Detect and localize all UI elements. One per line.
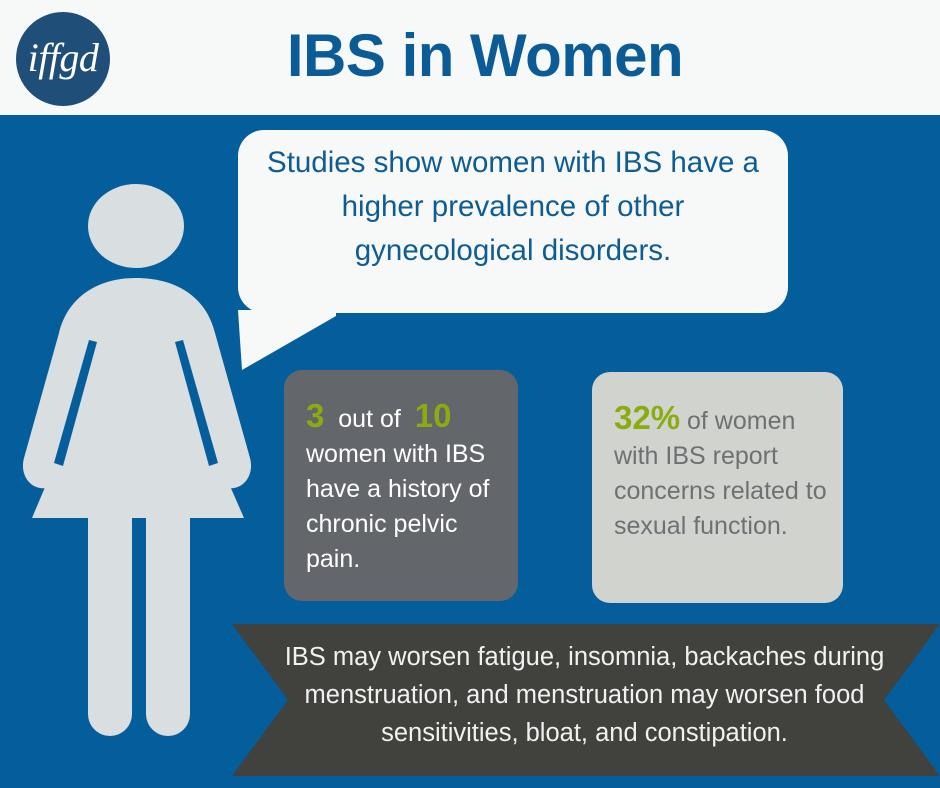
header-bar: iffgd IBS in Women [0, 0, 940, 115]
page-title: IBS in Women [0, 0, 940, 110]
stat-left-highlight-2: 10 [415, 397, 452, 434]
speech-bubble: Studies show women with IBS have a highe… [238, 130, 788, 313]
stat-left-middle-text: out of [338, 405, 401, 433]
stat-card-sexual-function: 32% of women with IBS report concerns re… [592, 372, 843, 603]
stat-card-right-text: 32% of women with IBS report concerns re… [614, 400, 833, 544]
stat-card-chronic-pelvic-pain: 3 out of 10 women with IBS have a histor… [284, 370, 518, 601]
infographic-canvas: iffgd IBS in Women Studies show women wi… [0, 0, 940, 788]
bottom-ribbon-text: IBS may worsen fatigue, insomnia, backac… [262, 638, 907, 752]
speech-bubble-tail-icon [238, 310, 358, 372]
stat-card-left-text: 3 out of 10 women with IBS have a histor… [306, 398, 508, 577]
speech-bubble-text: Studies show women with IBS have a highe… [260, 141, 766, 273]
stat-right-highlight-1: 32% [614, 399, 680, 436]
stat-left-highlight-1: 3 [306, 397, 324, 434]
bottom-ribbon-banner: IBS may worsen fatigue, insomnia, backac… [232, 624, 940, 776]
stat-left-rest-text: women with IBS have a history of chronic… [306, 440, 489, 573]
